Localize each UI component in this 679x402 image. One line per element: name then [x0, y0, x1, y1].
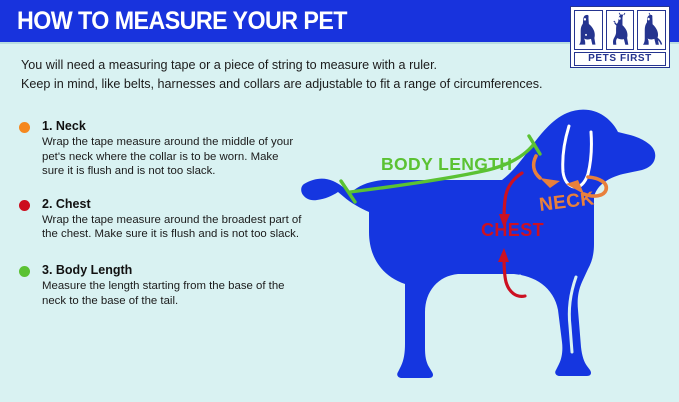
logo-wordmark-banner: PETS FIRST [574, 52, 666, 66]
logo-panels [574, 10, 666, 50]
step-title-neck: 1. Neck [42, 118, 303, 134]
dog-silhouette [301, 110, 655, 378]
logo-wordmark: PETS FIRST [588, 54, 652, 64]
step-bullet-chest [19, 200, 30, 211]
intro-paragraph: You will need a measuring tape or a piec… [21, 56, 581, 94]
step-neck: 1. Neck Wrap the tape measure around the… [18, 118, 303, 179]
step-bullet-body-length [19, 266, 30, 277]
step-title-chest: 2. Chest [42, 196, 303, 212]
annotation-label-body-length: BODY LENGTH [381, 154, 512, 174]
annotation-label-chest: CHEST [481, 220, 544, 240]
measurement-steps-list: 1. Neck Wrap the tape measure around the… [18, 118, 303, 325]
dog-sitting-alert-icon [637, 10, 666, 50]
step-bullet-neck [19, 122, 30, 133]
dog-begging-icon [606, 10, 635, 50]
dog-measurement-illustration: BODY LENGTH NECK CHEST [288, 104, 679, 402]
step-body-chest: Wrap the tape measure around the broades… [42, 213, 303, 242]
intro-line-1: You will need a measuring tape or a piec… [21, 56, 581, 75]
dog-sitting-icon [574, 10, 603, 50]
intro-line-2: Keep in mind, like belts, harnesses and … [21, 75, 581, 94]
step-body-length: 3. Body Length Measure the length starti… [18, 262, 303, 308]
how-to-measure-your-pet-infographic: HOW TO MEASURE YOUR PET [0, 0, 679, 402]
step-chest: 2. Chest Wrap the tape measure around th… [18, 196, 303, 242]
page-title: HOW TO MEASURE YOUR PET [17, 8, 347, 35]
step-body-neck: Wrap the tape measure around the middle … [42, 135, 303, 179]
step-body-body-length: Measure the length starting from the bas… [42, 279, 303, 308]
pets-first-logo: PETS FIRST [570, 6, 670, 68]
step-title-body-length: 3. Body Length [42, 262, 303, 278]
